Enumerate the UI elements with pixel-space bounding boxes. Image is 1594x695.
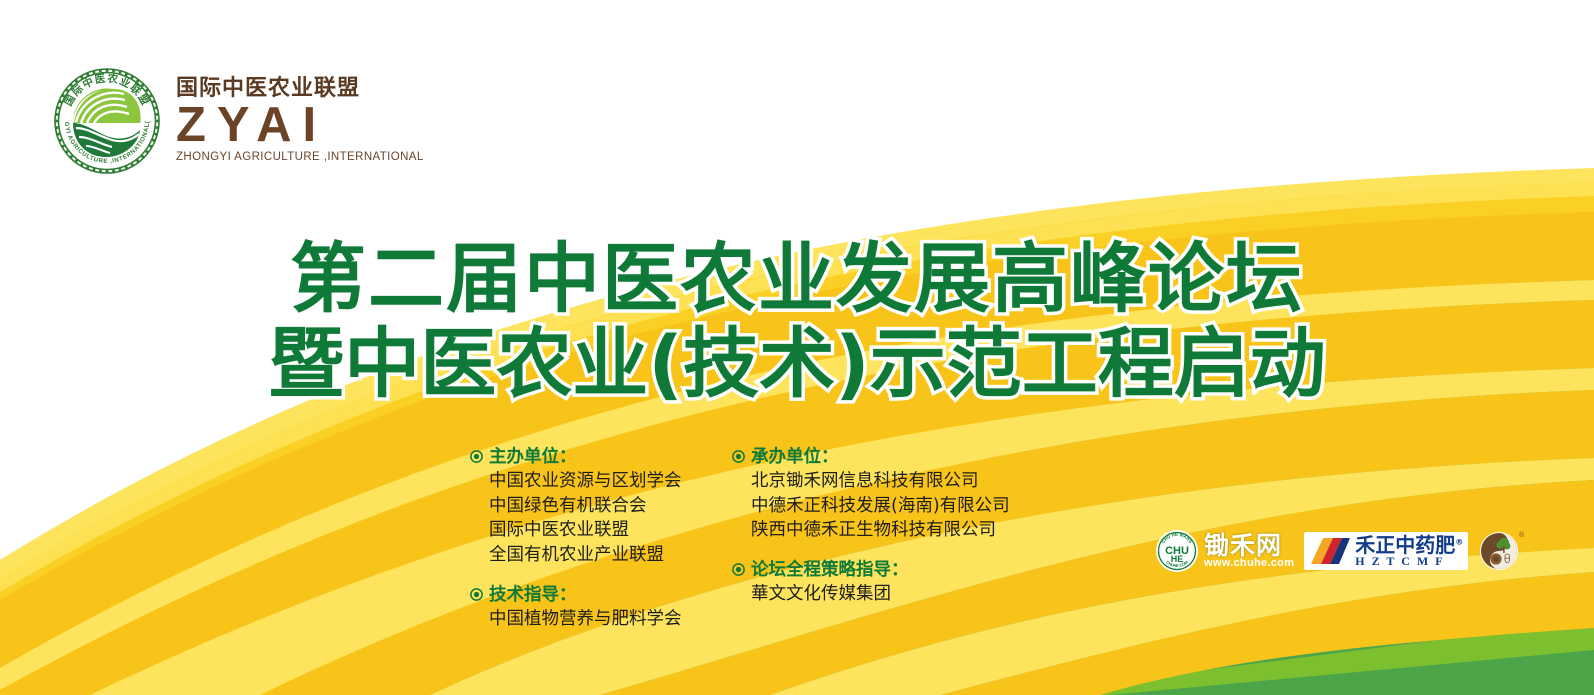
list-item: 中国绿色有机联合会 — [489, 494, 732, 519]
list-item: 陕西中德禾正生物科技有限公司 — [751, 518, 1062, 543]
credit-heading-label: 技术指导： — [489, 584, 577, 607]
zyai-logo-block: 国际中医农业联盟 ZHONGYI AGRICULTURE ,INTERNATIO… — [52, 66, 424, 176]
credits-right-column: 承办单位： 北京锄禾网信息科技有限公司 中德禾正科技发展(海南)有限公司 陕西中… — [732, 446, 1062, 648]
registered-mark: ® — [1519, 531, 1524, 539]
credit-item-list: 華文文化传媒集团 — [751, 582, 1062, 607]
svg-text:HE: HE — [1171, 554, 1184, 564]
list-item: 国际中医农业联盟 — [489, 518, 732, 543]
credit-heading: 承办单位： — [732, 446, 1062, 469]
hztcmf-wordmark: 禾正中药肥® H Z T C M F — [1355, 535, 1463, 567]
logo-org-cn: 国际中医农业联盟 — [176, 78, 424, 100]
credits-block: 主办单位： 中国农业资源与区划学会 中国绿色有机联合会 国际中医农业联盟 全国有… — [470, 446, 1062, 648]
hztcmf-z-icon — [1309, 536, 1351, 566]
credit-group-organizers: 主办单位： 中国农业资源与区划学会 中国绿色有机联合会 国际中医农业联盟 全国有… — [470, 446, 732, 568]
logo-org-en: ZHONGYI AGRICULTURE ,INTERNATIONAL — [176, 152, 424, 164]
bullet-target-icon — [732, 563, 745, 576]
taiji-tree-icon: ® — [1478, 528, 1524, 574]
sponsor-logo-row: CHU HE WANG CHUHE.COM CHU HE 锄禾网 www.chu… — [1155, 528, 1524, 574]
credits-left-column: 主办单位： 中国农业资源与区划学会 中国绿色有机联合会 国际中医农业联盟 全国有… — [470, 446, 732, 648]
sponsor-hztcmf: 禾正中药肥® H Z T C M F — [1304, 532, 1468, 570]
credit-heading-label: 论坛全程策略指导： — [751, 559, 909, 582]
credit-heading: 主办单位： — [470, 446, 732, 469]
credit-heading-label: 主办单位： — [489, 446, 577, 469]
zyai-logo-wordmark: 国际中医农业联盟 ZYAI ZHONGYI AGRICULTURE ,INTER… — [176, 78, 424, 163]
chuhe-name-cn: 锄禾网 — [1204, 533, 1294, 558]
bullet-target-icon — [470, 588, 483, 601]
credit-item-list: 北京锄禾网信息科技有限公司 中德禾正科技发展(海南)有限公司 陕西中德禾正生物科… — [751, 469, 1062, 544]
registered-mark: ® — [1455, 537, 1463, 546]
credit-heading: 论坛全程策略指导： — [732, 559, 1062, 582]
hztcmf-name-en: H Z T C M F — [1355, 555, 1463, 567]
sponsor-taiji-tree: ® — [1478, 528, 1524, 574]
credit-heading-label: 承办单位： — [751, 446, 839, 469]
conference-banner: 国际中医农业联盟 ZHONGYI AGRICULTURE ,INTERNATIO… — [0, 0, 1594, 695]
list-item: 中国农业资源与区划学会 — [489, 469, 732, 494]
credit-group-technical-guidance: 技术指导： 中国植物营养与肥料学会 — [470, 584, 732, 632]
hztcmf-name-cn: 禾正中药肥® — [1355, 535, 1463, 555]
credit-group-strategic-guidance: 论坛全程策略指导： 華文文化传媒集团 — [732, 559, 1062, 607]
zyai-emblem-icon: 国际中医农业联盟 ZHONGYI AGRICULTURE ,INTERNATIO… — [52, 66, 162, 176]
credit-group-co-organizers: 承办单位： 北京锄禾网信息科技有限公司 中德禾正科技发展(海南)有限公司 陕西中… — [732, 446, 1062, 543]
credit-item-list: 中国植物营养与肥料学会 — [489, 607, 732, 632]
chuhe-circle-icon: CHU HE WANG CHUHE.COM CHU HE — [1155, 529, 1199, 573]
list-item: 華文文化传媒集团 — [751, 582, 1062, 607]
list-item: 中国植物营养与肥料学会 — [489, 607, 732, 632]
chuhe-wordmark: 锄禾网 www.chuhe.com — [1204, 533, 1294, 569]
chuhe-url: www.chuhe.com — [1204, 558, 1294, 569]
logo-org-abbr: ZYAI — [176, 101, 424, 151]
list-item: 全国有机农业产业联盟 — [489, 543, 732, 568]
credit-heading: 技术指导： — [470, 584, 732, 607]
bullet-target-icon — [732, 450, 745, 463]
list-item: 北京锄禾网信息科技有限公司 — [751, 469, 1062, 494]
sponsor-chuhe: CHU HE WANG CHUHE.COM CHU HE 锄禾网 www.chu… — [1155, 529, 1294, 573]
list-item: 中德禾正科技发展(海南)有限公司 — [751, 494, 1062, 519]
credit-item-list: 中国农业资源与区划学会 中国绿色有机联合会 国际中医农业联盟 全国有机农业产业联… — [489, 469, 732, 568]
bullet-target-icon — [470, 450, 483, 463]
